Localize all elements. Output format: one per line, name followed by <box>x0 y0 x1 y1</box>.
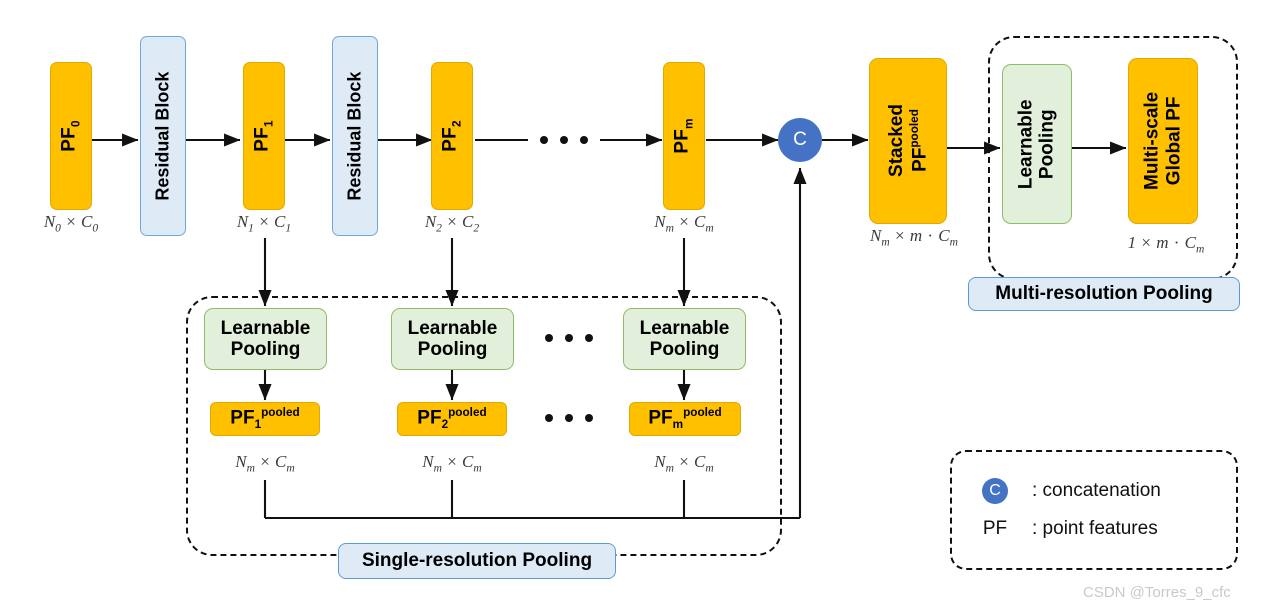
node-sr-learnable-pooling-m[interactable]: Learnable Pooling <box>623 308 746 370</box>
legend-concat-text: : concatenation <box>1032 480 1161 502</box>
node-pf1[interactable]: PF1 <box>243 62 285 210</box>
dim-pfm: Nm × Cm <box>633 212 735 234</box>
node-stacked-pf-pooled[interactable]: Stacked PFpooled <box>869 58 947 224</box>
node-residual-block-2[interactable]: Residual Block <box>332 36 378 236</box>
node-pfm-label: PFm <box>672 118 696 153</box>
node-pf1-pooled-label: PF1pooled <box>230 406 299 431</box>
node-stacked-pf-pooled-label: Stacked PFpooled <box>885 105 930 178</box>
diagram-canvas: PF0 N0 × C0 Residual Block PF1 N1 × C1 R… <box>0 0 1268 610</box>
node-pfm-pooled-label: PFmpooled <box>648 406 721 431</box>
dim-global-pf: 1 × m · Cm <box>1113 233 1219 255</box>
node-multiscale-global-pf-label: Multi-scale Global PF <box>1141 92 1185 190</box>
dim-pf2: N2 × C2 <box>401 212 503 234</box>
watermark: CSDN @Torres_9_cfc <box>1083 584 1231 601</box>
node-pf2-pooled[interactable]: PF2pooled <box>397 402 507 436</box>
backbone-ellipsis <box>540 136 588 144</box>
sr-ellipsis-pooled-row <box>545 414 593 422</box>
dim-pf1-pooled: Nm × Cm <box>214 452 316 474</box>
node-residual-block-1[interactable]: Residual Block <box>140 36 186 236</box>
legend-pf-text: : point features <box>1032 518 1158 540</box>
node-residual-block-1-label: Residual Block <box>153 71 173 200</box>
dim-pfm-pooled: Nm × Cm <box>633 452 735 474</box>
node-sr-learnable-pooling-2-label: Learnable Pooling <box>408 318 498 361</box>
node-sr-learnable-pooling-m-label: Learnable Pooling <box>640 318 730 361</box>
node-pf2-label: PF2 <box>440 120 464 151</box>
node-pf1-pooled[interactable]: PF1pooled <box>210 402 320 436</box>
node-sr-learnable-pooling-1[interactable]: Learnable Pooling <box>204 308 327 370</box>
node-mr-learnable-pooling-label: Learnable Pooling <box>1016 99 1059 189</box>
dim-pf1: N1 × C1 <box>213 212 315 234</box>
legend-concat-key: C <box>972 478 1018 504</box>
dim-stacked: Nm × m · Cm <box>852 226 976 248</box>
dim-pf2-pooled: Nm × Cm <box>401 452 503 474</box>
caption-multi-resolution-pooling: Multi-resolution Pooling <box>968 277 1240 311</box>
legend-row-point-features: PF : point features <box>972 518 1158 540</box>
concat-node-label: C <box>793 129 807 151</box>
node-mr-learnable-pooling[interactable]: Learnable Pooling <box>1002 64 1072 224</box>
legend-box <box>950 450 1238 570</box>
node-pf0[interactable]: PF0 <box>50 62 92 210</box>
node-pf2[interactable]: PF2 <box>431 62 473 210</box>
node-pf2-pooled-label: PF2pooled <box>417 406 486 431</box>
node-multiscale-global-pf[interactable]: Multi-scale Global PF <box>1128 58 1198 224</box>
legend-row-concatenation: C : concatenation <box>972 478 1161 504</box>
node-residual-block-2-label: Residual Block <box>345 71 365 200</box>
concat-icon: C <box>982 478 1008 504</box>
dim-pf0: N0 × C0 <box>20 212 122 234</box>
concat-node[interactable]: C <box>778 118 822 162</box>
node-sr-learnable-pooling-2[interactable]: Learnable Pooling <box>391 308 514 370</box>
node-pfm-pooled[interactable]: PFmpooled <box>629 402 741 436</box>
stacked-line1: Stacked <box>885 105 907 178</box>
node-pfm[interactable]: PFm <box>663 62 705 210</box>
node-sr-learnable-pooling-1-label: Learnable Pooling <box>221 318 311 361</box>
node-pf0-label: PF0 <box>59 120 83 151</box>
node-pf1-label: PF1 <box>252 120 276 151</box>
sr-ellipsis-pooling-row <box>545 334 593 342</box>
stacked-line2: PFpooled <box>907 110 930 173</box>
legend-pf-key: PF <box>972 518 1018 540</box>
caption-single-resolution-pooling: Single-resolution Pooling <box>338 543 616 579</box>
